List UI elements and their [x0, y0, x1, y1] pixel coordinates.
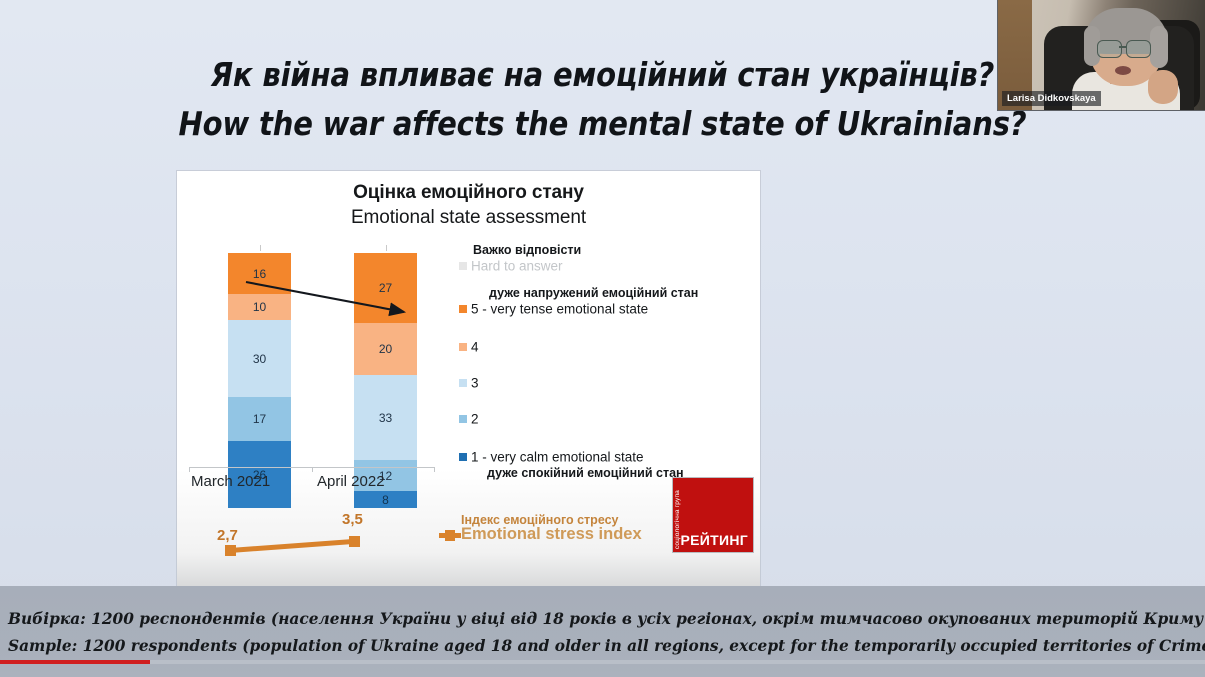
stacked-bar-plot: 16 10 30 17 26 27 20 33 12 8 — [177, 171, 760, 586]
webcam-video-tile[interactable]: Larisa Didkovskaya — [998, 0, 1205, 110]
webcam-person-hand — [1148, 70, 1178, 104]
legend-label-en: 2 — [471, 411, 479, 426]
legend-swatch-4 — [459, 343, 467, 351]
legend-label-ua: дуже напружений емоційний стан — [489, 286, 698, 300]
legend-item-hard-to-answer[interactable]: Важко відповісти Hard to answer — [459, 243, 581, 275]
legend-label-en: 1 - very calm emotional state — [471, 449, 644, 464]
bar-top-tick — [260, 245, 261, 251]
webcam-person-hair-right — [1150, 26, 1168, 68]
segment-value: 33 — [379, 411, 392, 425]
stress-index-legend-marker — [439, 533, 461, 538]
bar-column-march-2021: 16 10 30 17 26 — [228, 253, 291, 508]
segment-value: 30 — [253, 352, 266, 366]
footnote-ukrainian: Вибірка: 1200 респондентів (населення Ук… — [8, 609, 1205, 628]
segment-value: 16 — [253, 267, 266, 281]
legend-label-en: 3 — [471, 375, 479, 390]
segment-value: 27 — [379, 281, 392, 295]
rating-logo: соціологічна група РЕЙТИНГ — [673, 478, 753, 552]
legend-item-2[interactable]: 2 — [459, 410, 479, 428]
presentation-slide: Як війна впливає на емоційний стан украї… — [0, 0, 1205, 677]
segment-value: 10 — [253, 300, 266, 314]
x-axis-line — [189, 467, 435, 468]
webcam-participant-name: Larisa Didkovskaya — [1002, 91, 1101, 106]
legend-label-en: Hard to answer — [471, 258, 563, 273]
bar-column-april-2022: 27 20 33 12 8 — [354, 253, 417, 508]
legend-item-4[interactable]: 4 — [459, 338, 479, 356]
legend-label-ua: дуже спокійний емоційний стан — [487, 466, 684, 480]
x-axis-label-april-2022: April 2022 — [317, 473, 385, 490]
legend-label-en: 5 - very tense emotional state — [471, 301, 648, 316]
segment-value: 17 — [253, 412, 266, 426]
x-axis-label-march-2021: March 2021 — [191, 473, 270, 490]
stress-index-line — [230, 539, 355, 553]
legend-swatch-1 — [459, 453, 467, 461]
stress-index-label-en: Emotional stress index — [461, 525, 669, 544]
webcam-person-mouth — [1115, 66, 1131, 75]
legend-item-3[interactable]: 3 — [459, 374, 479, 392]
stress-index-value-2022: 3,5 — [342, 511, 363, 528]
legend-label-ua: Важко відповісти — [473, 243, 581, 257]
webcam-glasses-left — [1097, 40, 1122, 58]
stress-index-marker-2022 — [349, 536, 360, 547]
legend-swatch-2 — [459, 415, 467, 423]
legend-item-1[interactable]: 1 - very calm emotional state дуже спокі… — [459, 448, 684, 480]
legend-swatch-5 — [459, 305, 467, 313]
chart-panel: Оцінка емоційного стану Emotional state … — [177, 171, 760, 586]
legend-item-5[interactable]: дуже напружений емоційний стан 5 - very … — [459, 286, 698, 318]
stress-index-legend[interactable]: Індекс емоційного стресу Emotional stres… — [439, 513, 669, 544]
footnote-english: Sample: 1200 respondents (population of … — [8, 636, 1205, 655]
webcam-glasses-right — [1126, 40, 1151, 58]
legend-swatch-3 — [459, 379, 467, 387]
headline-ukrainian: Як війна впливає на емоційний стан украї… — [72, 58, 1132, 91]
headline-english: How the war affects the mental state of … — [72, 107, 1132, 140]
playback-progress-track[interactable] — [0, 660, 1205, 664]
playback-progress-fill[interactable] — [0, 660, 150, 664]
legend-swatch-hard-to-answer — [459, 262, 467, 270]
rating-logo-brand: РЕЙТИНГ — [681, 532, 749, 548]
legend-label-en: 4 — [471, 339, 479, 354]
bar-top-tick — [386, 245, 387, 251]
segment-value: 20 — [379, 342, 392, 356]
stress-index-marker-2021 — [225, 545, 236, 556]
webcam-glasses-bridge — [1119, 46, 1127, 48]
stress-index-value-2021: 2,7 — [217, 527, 238, 544]
